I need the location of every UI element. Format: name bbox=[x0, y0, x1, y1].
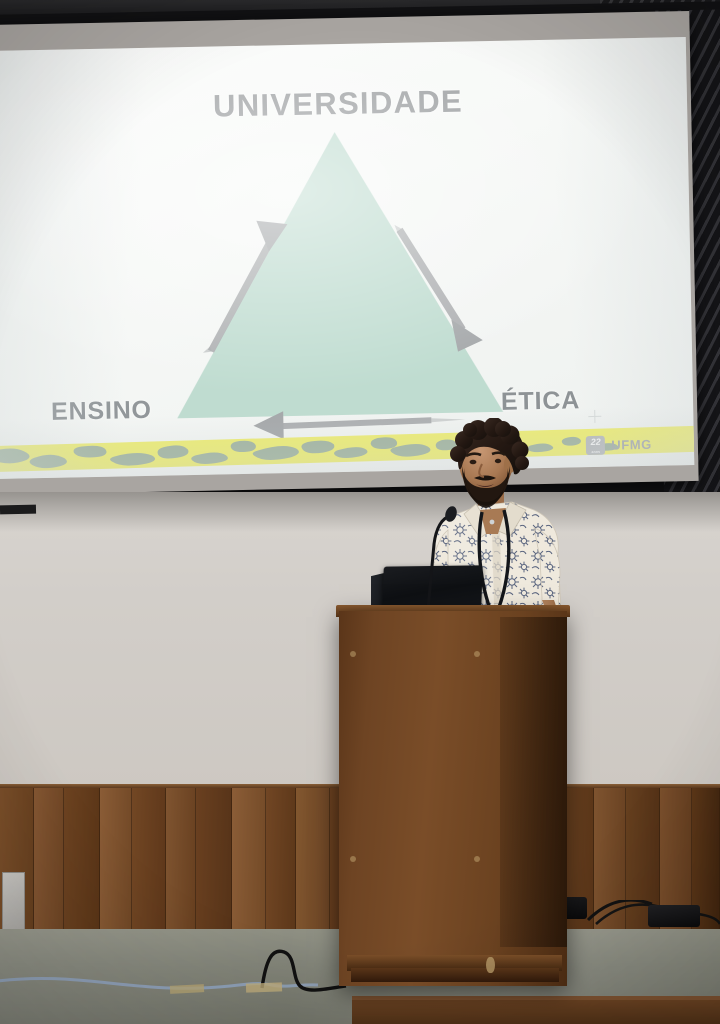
podium-plinth bbox=[351, 968, 559, 982]
stage-edge bbox=[352, 1000, 720, 1024]
podium-fastener bbox=[350, 856, 356, 862]
presentation-slide: UNIVERSIDADE bbox=[0, 37, 694, 479]
slide-label-etica: ÉTICA bbox=[501, 386, 581, 417]
blue-network-cable bbox=[0, 978, 272, 988]
arrow-ensino-to-universidade bbox=[200, 220, 290, 353]
power-cable-out bbox=[698, 914, 720, 924]
eye-right bbox=[495, 459, 501, 463]
microphone bbox=[420, 506, 460, 616]
podium-fastener bbox=[350, 651, 356, 657]
head bbox=[450, 418, 529, 508]
wall-shadow-under-screen bbox=[0, 492, 720, 532]
power-strip bbox=[648, 905, 700, 927]
slide-label-ensino: ENSINO bbox=[51, 396, 152, 427]
screen-mount-bracket bbox=[0, 505, 36, 515]
mic-gooseneck bbox=[428, 516, 450, 610]
gaffer-tape-strip bbox=[246, 982, 282, 992]
podium-fastener bbox=[474, 856, 480, 862]
podium-fastener bbox=[474, 651, 480, 657]
podium: UFMG bbox=[339, 611, 567, 986]
podium-cable-grommet bbox=[486, 957, 495, 973]
mic-capsule bbox=[443, 506, 458, 523]
ufmg-wordmark: UFMG bbox=[611, 437, 652, 453]
lanyard-clasp bbox=[490, 520, 495, 525]
podium-right-face bbox=[500, 617, 567, 947]
arrow-universidade-to-etica bbox=[394, 223, 483, 353]
presentation-photo-scene: UNIVERSIDADE bbox=[0, 0, 720, 1024]
eye-left bbox=[470, 460, 477, 465]
